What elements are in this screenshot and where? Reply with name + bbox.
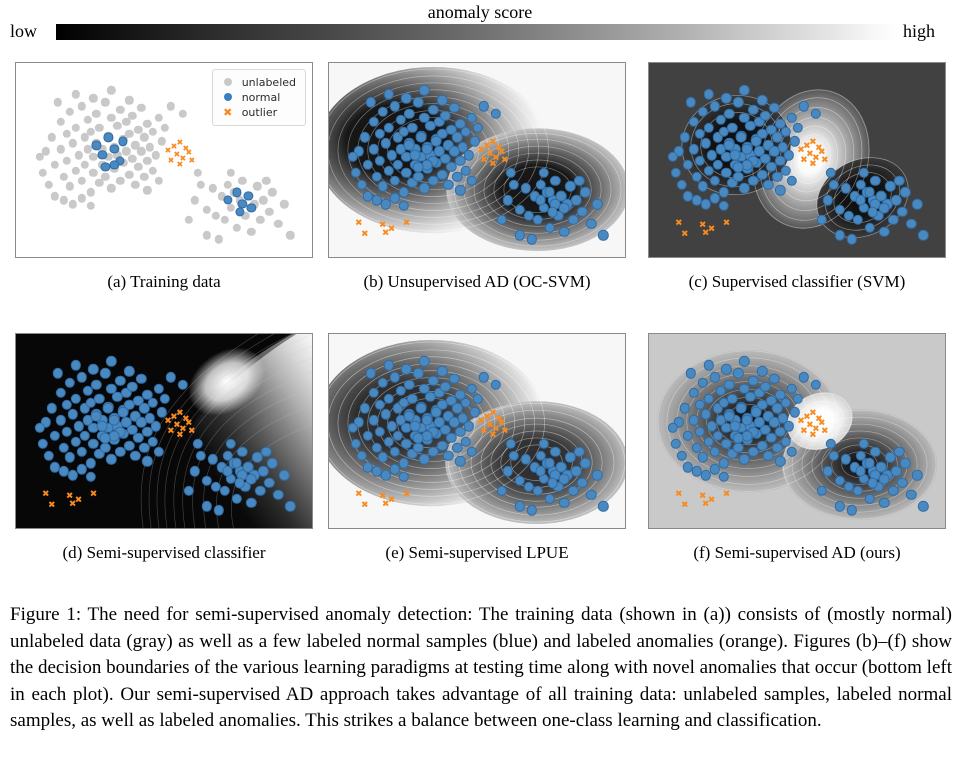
data-point-outlier: ✖ — [165, 147, 172, 155]
caption-panel-a: (a) Training data — [15, 272, 313, 292]
data-point-outlier-novel: ✖ — [361, 231, 369, 240]
data-point-outlier: ✖ — [480, 157, 488, 166]
data-point-normal — [559, 203, 570, 214]
panel-b-unsupervised-ad[interactable]: ✖✖✖✖✖✖✖✖✖✖✖✖✖✖✖✖ — [328, 62, 626, 258]
data-point-outlier: ✖ — [167, 428, 175, 437]
legend-normal-icon — [220, 90, 236, 105]
data-point-outlier: ✖ — [480, 428, 488, 437]
legend-normal-label: normal — [242, 90, 281, 105]
data-point-normal — [422, 415, 433, 426]
data-point-outlier-novel: ✖ — [90, 490, 98, 499]
data-point-normal — [547, 478, 558, 489]
colorbar-title: anomaly score — [0, 2, 960, 22]
panel-e-background — [329, 334, 625, 528]
data-point-normal — [730, 150, 741, 161]
data-point-normal — [416, 403, 427, 414]
data-point-outlier: ✖ — [501, 428, 509, 437]
panel-c-background — [649, 63, 945, 257]
panel-c-supervised-classifier[interactable]: ✖✖✖✖✖✖✖✖✖✖✖✖✖✖✖✖ — [648, 62, 946, 258]
data-point-outlier: ✖ — [797, 147, 805, 156]
data-point-normal — [97, 421, 108, 432]
panel-b-background — [329, 63, 625, 257]
panel-f-plot: ✖✖✖✖✖✖✖✖✖✖✖✖✖✖✖✖ — [649, 334, 945, 528]
panel-a-training-data[interactable]: ✖✖✖✖✖✖✖✖✖✖ unlabeled normal ✖ outlier — [15, 62, 313, 258]
data-point-outlier-novel: ✖ — [403, 219, 411, 228]
data-point-outlier: ✖ — [489, 431, 497, 440]
data-point-normal — [431, 136, 442, 147]
data-point-normal — [879, 203, 890, 214]
legend: unlabeled normal ✖ outlier — [212, 69, 306, 126]
data-point-normal — [544, 187, 555, 198]
data-point-normal — [855, 466, 866, 477]
caption-panel-b: (b) Unsupervised AD (OC-SVM) — [328, 272, 626, 292]
data-point-normal — [751, 407, 762, 418]
data-point-outlier-novel: ✖ — [75, 496, 83, 505]
panel-c-plot: ✖✖✖✖✖✖✖✖✖✖✖✖✖✖✖✖ — [649, 63, 945, 257]
caption-panel-d: (d) Semi-supervised classifier — [15, 543, 313, 563]
data-point-outlier-novel: ✖ — [355, 219, 363, 228]
data-point-outlier: ✖ — [800, 428, 808, 437]
data-point-normal — [109, 415, 120, 426]
data-point-normal — [413, 432, 424, 443]
data-point-outlier: ✖ — [821, 428, 829, 437]
data-point-outlier: ✖ — [477, 147, 485, 156]
data-point-outlier-novel: ✖ — [681, 231, 689, 240]
data-point-normal — [867, 478, 878, 489]
data-point-normal — [556, 462, 567, 473]
data-point-normal — [544, 458, 555, 469]
data-point-normal — [559, 474, 570, 485]
data-point-normal — [751, 136, 762, 147]
panel-d-semisupervised-classifier[interactable]: ✖✖✖✖✖✖✖✖✖✖✖✖✖✖✖✖ — [15, 333, 313, 529]
data-point-normal — [410, 421, 421, 432]
data-point-normal — [547, 207, 558, 218]
data-point-outlier-novel: ✖ — [723, 490, 731, 499]
colorbar-area: anomaly score low high — [0, 0, 960, 50]
data-point-normal — [876, 191, 887, 202]
data-point-outlier: ✖ — [501, 157, 509, 166]
data-point-normal — [879, 474, 890, 485]
caption-panel-c: (c) Supervised classifier (SVM) — [648, 272, 946, 292]
data-point-normal — [416, 132, 427, 143]
legend-item-normal: normal — [220, 90, 296, 105]
data-point-normal — [422, 144, 433, 155]
data-point-normal — [864, 187, 875, 198]
data-point-outlier-novel: ✖ — [708, 225, 716, 234]
data-point-outlier: ✖ — [809, 160, 817, 169]
data-point-normal — [100, 432, 111, 443]
data-point-normal — [733, 161, 744, 172]
data-point-outlier-novel: ✖ — [42, 490, 50, 499]
data-point-outlier-novel: ✖ — [355, 490, 363, 499]
legend-unlabeled-icon — [220, 75, 236, 90]
data-point-normal — [556, 191, 567, 202]
data-point-normal — [535, 466, 546, 477]
data-point-outlier: ✖ — [809, 431, 817, 440]
data-point-normal — [413, 161, 424, 172]
data-point-outlier-novel: ✖ — [403, 490, 411, 499]
data-point-outlier: ✖ — [797, 418, 805, 427]
data-point-normal — [742, 144, 753, 155]
data-point-normal — [234, 478, 245, 489]
panel-f-background — [649, 334, 945, 528]
colorbar-gradient — [56, 24, 901, 40]
data-point-normal — [222, 466, 233, 477]
data-point-outlier-novel: ✖ — [708, 496, 716, 505]
colorbar-low-label: low — [10, 22, 37, 40]
data-point-normal — [867, 207, 878, 218]
panel-e-semisupervised-lpue[interactable]: ✖✖✖✖✖✖✖✖✖✖✖✖✖✖✖✖ — [328, 333, 626, 529]
data-point-normal — [730, 421, 741, 432]
data-point-normal — [431, 407, 442, 418]
data-point-outlier: ✖ — [177, 161, 184, 169]
data-point-outlier: ✖ — [489, 160, 497, 169]
data-point-outlier: ✖ — [164, 418, 172, 427]
data-point-outlier: ✖ — [176, 431, 184, 440]
data-point-outlier: ✖ — [188, 428, 196, 437]
legend-unlabeled-label: unlabeled — [242, 75, 296, 90]
data-point-outlier-novel: ✖ — [675, 490, 683, 499]
data-point-outlier-novel: ✖ — [388, 225, 396, 234]
data-point-normal — [118, 407, 129, 418]
legend-outlier-icon: ✖ — [220, 105, 236, 120]
panel-b-plot: ✖✖✖✖✖✖✖✖✖✖✖✖✖✖✖✖ — [329, 63, 625, 257]
colorbar-high-label: high — [903, 22, 935, 40]
data-point-normal — [231, 458, 242, 469]
data-point-normal — [733, 432, 744, 443]
panel-e-plot: ✖✖✖✖✖✖✖✖✖✖✖✖✖✖✖✖ — [329, 334, 625, 528]
data-point-outlier: ✖ — [168, 157, 175, 165]
data-point-outlier: ✖ — [821, 157, 829, 166]
legend-item-outlier: ✖ outlier — [220, 105, 296, 120]
data-point-normal — [855, 195, 866, 206]
panel-d-plot: ✖✖✖✖✖✖✖✖✖✖✖✖✖✖✖✖ — [16, 334, 312, 528]
figure-caption: Figure 1: The need for semi-supervised a… — [10, 602, 952, 735]
data-point-normal — [410, 150, 421, 161]
data-point-normal — [864, 458, 875, 469]
caption-panel-e: (e) Semi-supervised LPUE — [328, 543, 626, 563]
panel-f-semisupervised-ad-ours[interactable]: ✖✖✖✖✖✖✖✖✖✖✖✖✖✖✖✖ — [648, 333, 946, 529]
data-point-normal — [103, 403, 114, 414]
data-point-outlier-novel: ✖ — [675, 219, 683, 228]
data-point-outlier: ✖ — [188, 157, 195, 165]
caption-panel-f: (f) Semi-supervised AD (ours) — [648, 543, 946, 563]
data-point-outlier-novel: ✖ — [361, 502, 369, 511]
data-point-outlier-novel: ✖ — [388, 496, 396, 505]
data-point-outlier: ✖ — [477, 418, 485, 427]
data-point-normal — [736, 403, 747, 414]
data-point-normal — [243, 462, 254, 473]
legend-outlier-label: outlier — [242, 105, 277, 120]
data-point-normal — [742, 415, 753, 426]
data-point-normal — [535, 195, 546, 206]
data-point-outlier-novel: ✖ — [48, 502, 56, 511]
data-point-outlier-novel: ✖ — [723, 219, 731, 228]
data-point-outlier-novel: ✖ — [681, 502, 689, 511]
data-point-outlier: ✖ — [800, 157, 808, 166]
legend-item-unlabeled: unlabeled — [220, 75, 296, 90]
panel-d-background — [16, 334, 312, 528]
data-point-normal — [736, 132, 747, 143]
data-point-normal — [246, 474, 257, 485]
data-point-normal — [876, 462, 887, 473]
